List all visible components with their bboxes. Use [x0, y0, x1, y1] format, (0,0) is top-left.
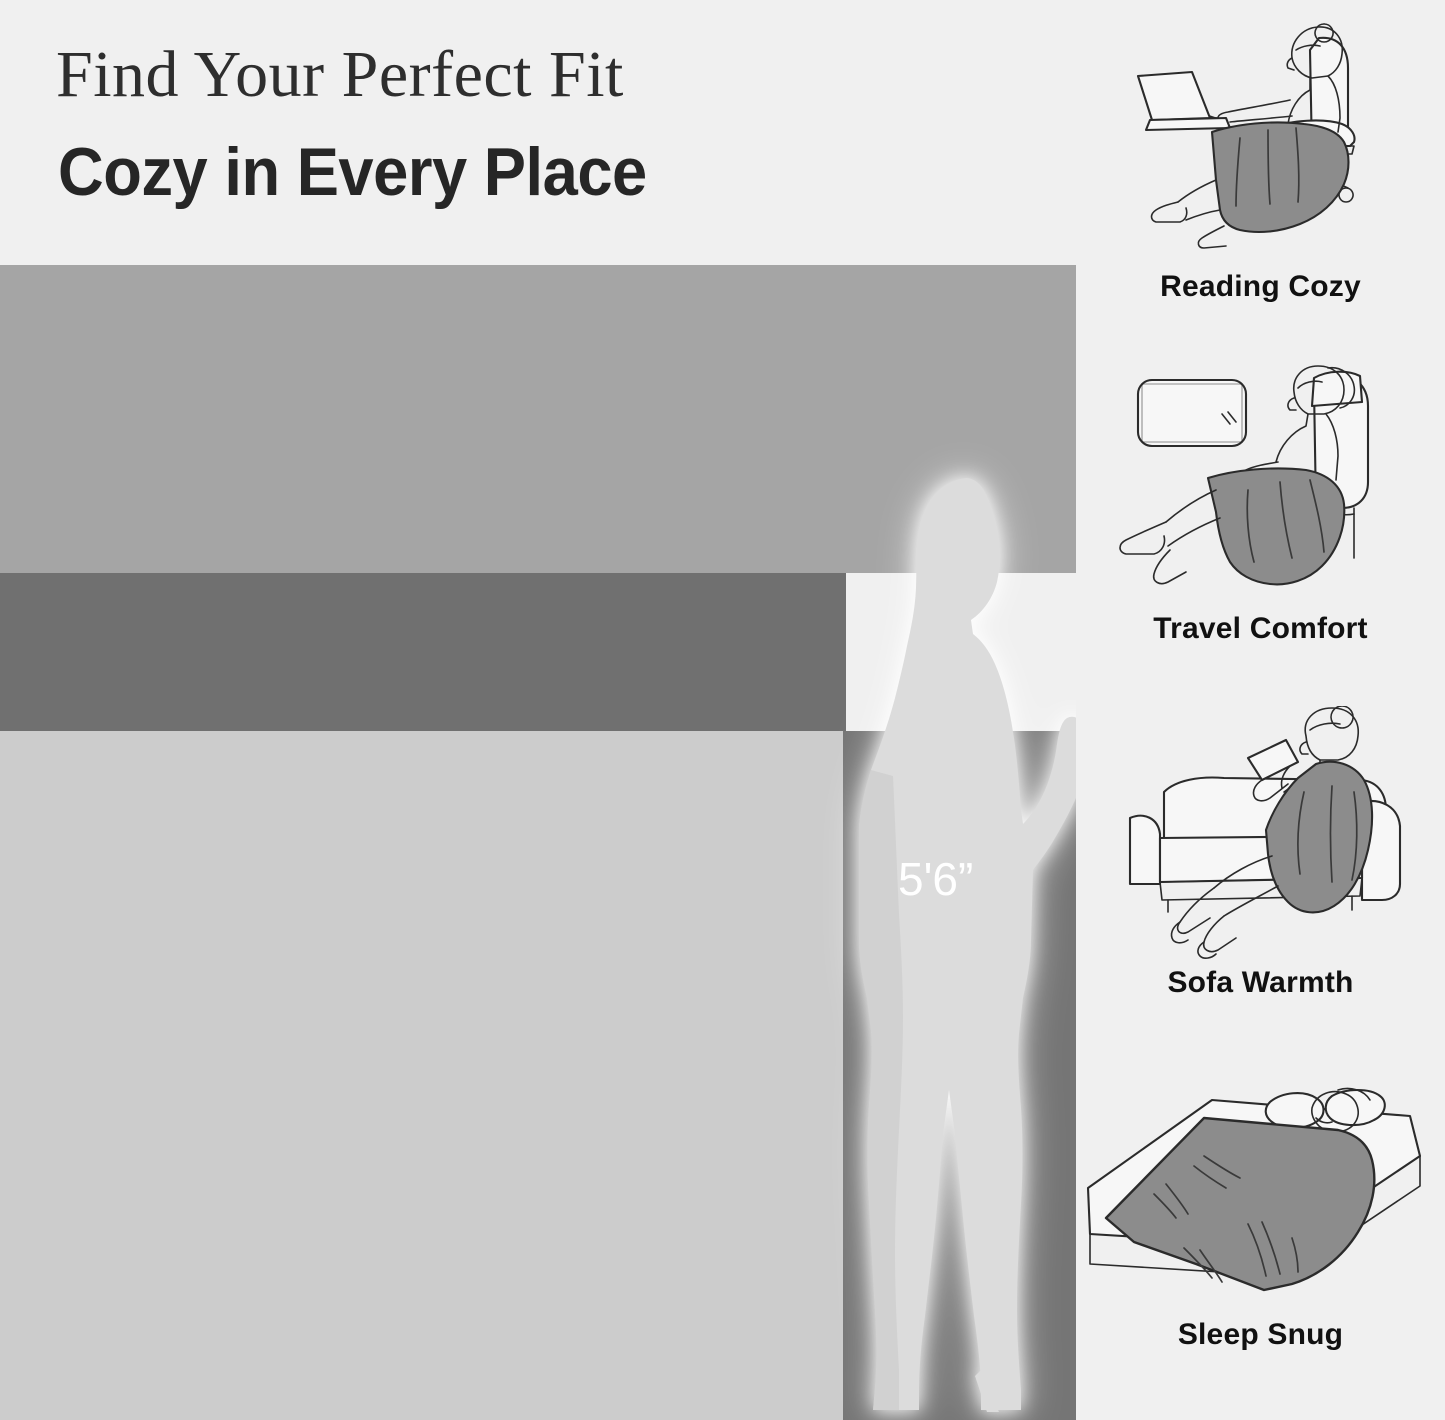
- woman-with-laptop-in-office-chair-icon: [1076, 20, 1445, 270]
- use-case-sofa: Sofa Warmth: [1076, 706, 1445, 1000]
- page-title: Cozy in Every Place: [58, 133, 647, 211]
- use-case-label-sofa: Sofa Warmth: [1076, 966, 1445, 1000]
- use-case-reading: Reading Cozy: [1076, 20, 1445, 304]
- headline-eyebrow: Find Your Perfect Fit: [56, 37, 624, 113]
- use-case-travel: Travel Comfort: [1076, 362, 1445, 646]
- use-case-label-travel: Travel Comfort: [1076, 612, 1445, 646]
- silhouette-backdrop-column: [843, 731, 1076, 1420]
- use-case-label-reading: Reading Cozy: [1076, 270, 1445, 304]
- height-reference-label: 5'6”: [898, 852, 973, 906]
- blanket-block-twin: [0, 573, 846, 731]
- blanket-block-full: [0, 265, 1076, 573]
- blanket-size-infographic: 80”x90” Full Blanket 60”x80” Twin Blanke…: [0, 0, 1445, 1420]
- woman-reclining-in-airplane-seat-icon: [1076, 362, 1445, 612]
- use-case-label-sleep: Sleep Snug: [1076, 1318, 1445, 1352]
- use-case-panel: Reading Cozy: [1076, 0, 1445, 1420]
- woman-with-phone-on-sofa-icon: [1076, 706, 1445, 966]
- blanket-block-throw: [0, 731, 843, 1420]
- person-sleeping-in-bed-icon: [1076, 1068, 1445, 1318]
- use-case-sleep: Sleep Snug: [1076, 1068, 1445, 1352]
- header: Find Your Perfect Fit Cozy in Every Plac…: [0, 0, 1075, 265]
